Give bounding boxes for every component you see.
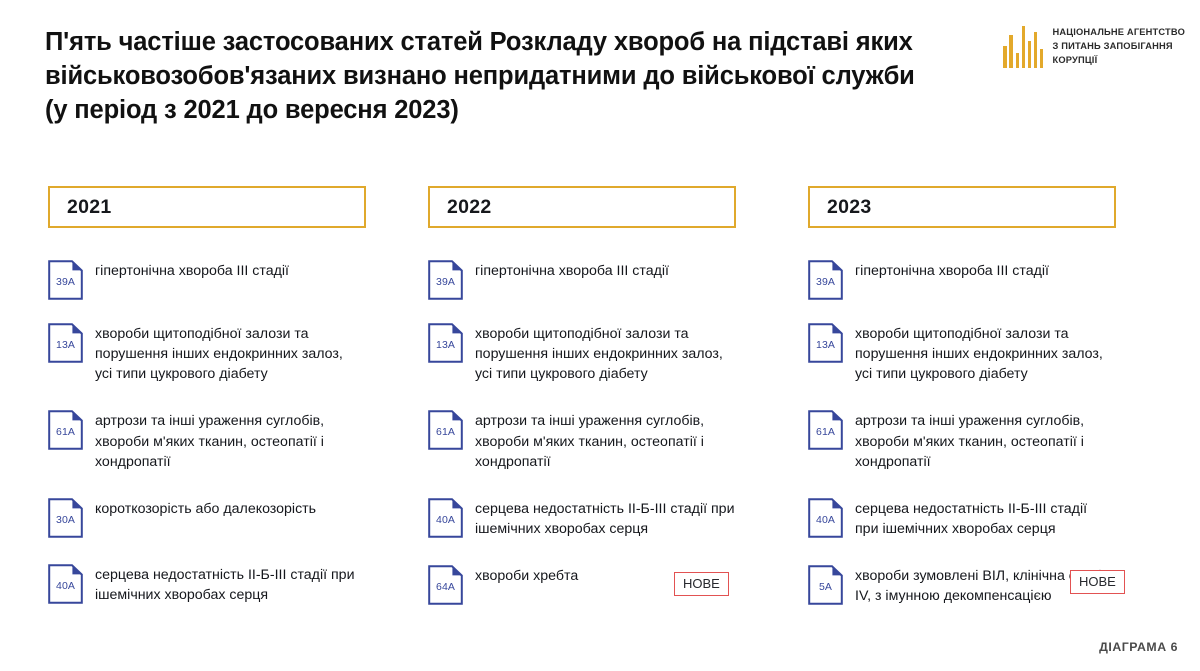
document-icon: 61А [808,410,843,450]
list-item-label: гіпертонічна хвороба III стадії [855,260,1049,281]
list-item-label: гіпертонічна хвороба III стадії [475,260,669,281]
list-item-label: хвороби щитоподібної залози та порушення… [95,323,357,384]
list-item: 39А гіпертонічна хвороба III стадії [428,260,735,300]
list-item-label: серцева недостатність II-Б-III стадії пр… [95,564,357,605]
list-item-label: артрози та інші ураження суглобів, хворо… [855,410,1110,471]
list-item: 13А хвороби щитоподібної залози та поруш… [808,323,1110,384]
document-icon: 40А [48,564,83,604]
list-item: 13А хвороби щитоподібної залози та поруш… [428,323,735,384]
document-code: 40А [808,514,843,526]
list-item: 30А короткозорість або далекозорість [48,498,360,538]
document-code: 61А [48,426,83,438]
document-code: 13А [808,339,843,351]
document-code: 39А [808,276,843,288]
year-columns: 2021 39А гіпертонічна хвороба III стадії [0,186,1200,630]
document-icon: 5А [808,565,843,605]
status-badge-new: НОВЕ [674,572,729,596]
list-item: 61А артрози та інші ураження суглобів, х… [808,410,1110,471]
document-code: 64А [428,581,463,593]
diagram-caption: ДІАГРАМА 6 [1099,640,1178,654]
document-icon: 40А [428,498,463,538]
document-icon: 39А [428,260,463,300]
column-2022: 2022 39А гіпертонічна хвороба III стадії [375,186,750,630]
list-item-label: артрози та інші ураження суглобів, хворо… [475,410,735,471]
list-item: 40А серцева недостатність II-Б-III стаді… [808,498,1110,539]
document-icon: 61А [428,410,463,450]
year-header-2021: 2021 [48,186,366,228]
document-icon: 64А [428,565,463,605]
year-label: 2021 [67,196,112,219]
slide-header: П'ять частіше застосованих статей Розкла… [0,0,1200,150]
year-header-2022: 2022 [428,186,736,228]
document-code: 61А [428,426,463,438]
list-item-label: хвороби щитоподібної залози та порушення… [475,323,735,384]
nazk-logo: НАЦІОНАЛЬНЕ АГЕНТСТВО З ПИТАНЬ ЗАПОБІГАН… [1003,26,1185,68]
document-code: 61А [808,426,843,438]
document-icon: 13А [48,323,83,363]
list-item-label: артрози та інші ураження суглобів, хворо… [95,410,357,471]
document-icon: 40А [808,498,843,538]
document-code: 40А [428,514,463,526]
year-label: 2023 [827,196,872,219]
document-icon: 39А [808,260,843,300]
slide-root: П'ять частіше застосованих статей Розкла… [0,0,1200,671]
document-icon: 30А [48,498,83,538]
list-item-label: серцева недостатність II-Б-III стадії пр… [855,498,1110,539]
page-title: П'ять частіше застосованих статей Розкла… [45,26,935,128]
column-2023: 2023 39А гіпертонічна хвороба III стадії [750,186,1125,630]
list-item: 64А хвороби хребта НОВЕ [428,565,735,605]
document-code: 39А [48,276,83,288]
list-item: 61А артрози та інші ураження суглобів, х… [428,410,735,471]
logo-line-1: НАЦІОНАЛЬНЕ АГЕНТСТВО [1052,26,1185,40]
list-item-label: короткозорість або далекозорість [95,498,316,519]
document-code: 13А [48,339,83,351]
list-item-label: хвороби хребта [475,565,578,586]
list-item-label: гіпертонічна хвороба III стадії [95,260,289,281]
list-item: 61А артрози та інші ураження суглобів, х… [48,410,360,471]
document-icon: 13А [808,323,843,363]
logo-bars-icon [1003,26,1043,68]
list-item: 40А серцева недостатність II-Б-III стаді… [48,564,360,605]
document-code: 13А [428,339,463,351]
document-code: 5А [808,581,843,593]
list-item: 13А хвороби щитоподібної залози та поруш… [48,323,360,384]
list-item-label: серцева недостатність II-Б-III стадії пр… [475,498,735,539]
year-label: 2022 [447,196,492,219]
document-code: 39А [428,276,463,288]
document-icon: 61А [48,410,83,450]
status-badge-new: НОВЕ [1070,570,1125,594]
document-icon: 39А [48,260,83,300]
list-item: 40А серцева недостатність II-Б-III стаді… [428,498,735,539]
list-item: 39А гіпертонічна хвороба III стадії [808,260,1110,300]
document-code: 30А [48,514,83,526]
document-icon: 13А [428,323,463,363]
list-item: 39А гіпертонічна хвороба III стадії [48,260,360,300]
logo-text: НАЦІОНАЛЬНЕ АГЕНТСТВО З ПИТАНЬ ЗАПОБІГАН… [1052,26,1185,67]
column-2021: 2021 39А гіпертонічна хвороба III стадії [0,186,375,630]
document-code: 40А [48,580,83,592]
list-item-label: хвороби щитоподібної залози та порушення… [855,323,1110,384]
year-header-2023: 2023 [808,186,1116,228]
list-item: 5А хвороби зумовлені ВІЛ, клінічна стаді… [808,565,1110,606]
logo-line-2: З ПИТАНЬ ЗАПОБІГАННЯ [1052,40,1185,54]
logo-line-3: КОРУПЦІЇ [1052,54,1185,68]
